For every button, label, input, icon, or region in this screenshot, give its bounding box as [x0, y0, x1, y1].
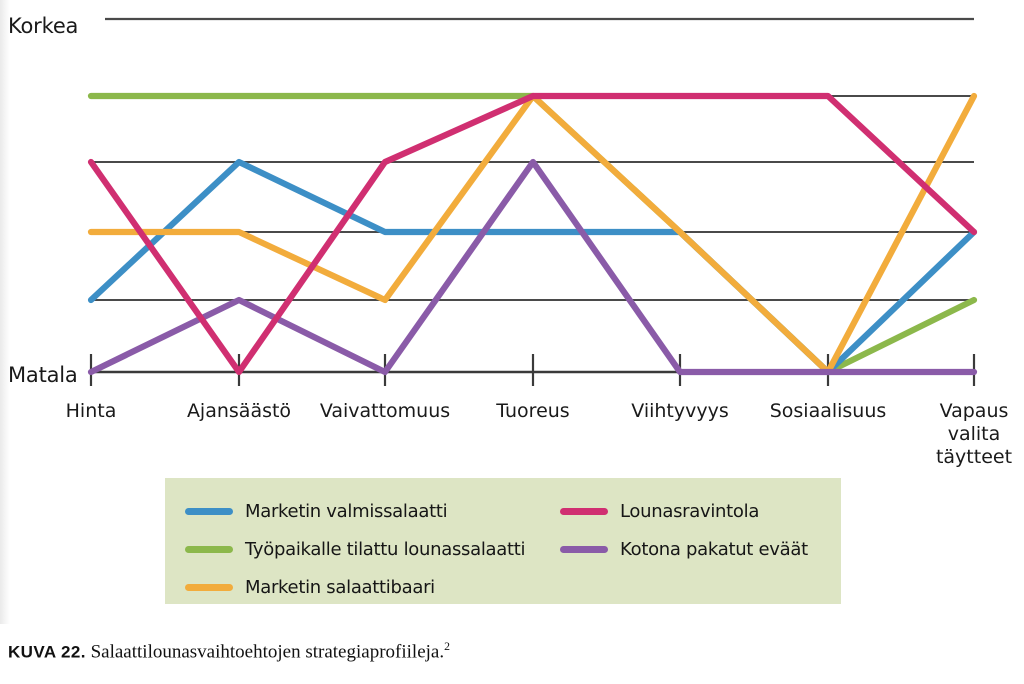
caption-prefix: KUVA 22.	[8, 642, 86, 661]
legend-item[interactable]: Marketin salaattibaari	[185, 577, 560, 598]
caption-text: Salaattilounasvaihtoehtojen strategiapro…	[91, 641, 445, 662]
legend-label: Lounasravintola	[620, 501, 759, 522]
chart-figure: Korkea Matala HintaAjansäästöVaivattomuu…	[0, 0, 1024, 624]
legend-label: Marketin valmissalaatti	[245, 501, 447, 522]
legend-color-swatch-icon	[560, 546, 608, 553]
legend-color-swatch-icon	[185, 546, 233, 553]
x-axis-label-1: Ajansäästö	[187, 400, 291, 423]
legend-label: Marketin salaattibaari	[245, 577, 435, 598]
caption-footnote-marker: 2	[444, 640, 450, 653]
legend-item[interactable]: Kotona pakatut eväät	[560, 539, 825, 560]
x-axis-label-2: Vaivattomuus	[320, 400, 450, 423]
x-axis-label-6: Vapaus valita täytteet	[936, 400, 1012, 470]
legend-item[interactable]: Työpaikalle tilattu lounassalaatti	[185, 539, 560, 560]
legend-item[interactable]: Marketin valmissalaatti	[185, 501, 560, 522]
figure-caption: KUVA 22. Salaattilounasvaihtoehtojen str…	[8, 640, 450, 663]
legend-label: Kotona pakatut eväät	[620, 539, 808, 560]
legend-label: Työpaikalle tilattu lounassalaatti	[245, 539, 525, 560]
x-axis-label-4: Viihtyvyys	[631, 400, 729, 423]
x-axis-label-5: Sosiaalisuus	[770, 400, 887, 423]
chart-legend: Marketin valmissalaattiLounasravintolaTy…	[165, 478, 841, 604]
legend-color-swatch-icon	[185, 584, 233, 591]
x-axis-label-0: Hinta	[66, 400, 117, 423]
figure-root: Korkea Matala HintaAjansäästöVaivattomuu…	[0, 0, 1024, 684]
legend-color-swatch-icon	[560, 508, 608, 515]
legend-item[interactable]: Lounasravintola	[560, 501, 825, 522]
legend-color-swatch-icon	[185, 508, 233, 515]
x-axis-label-3: Tuoreus	[496, 400, 569, 423]
